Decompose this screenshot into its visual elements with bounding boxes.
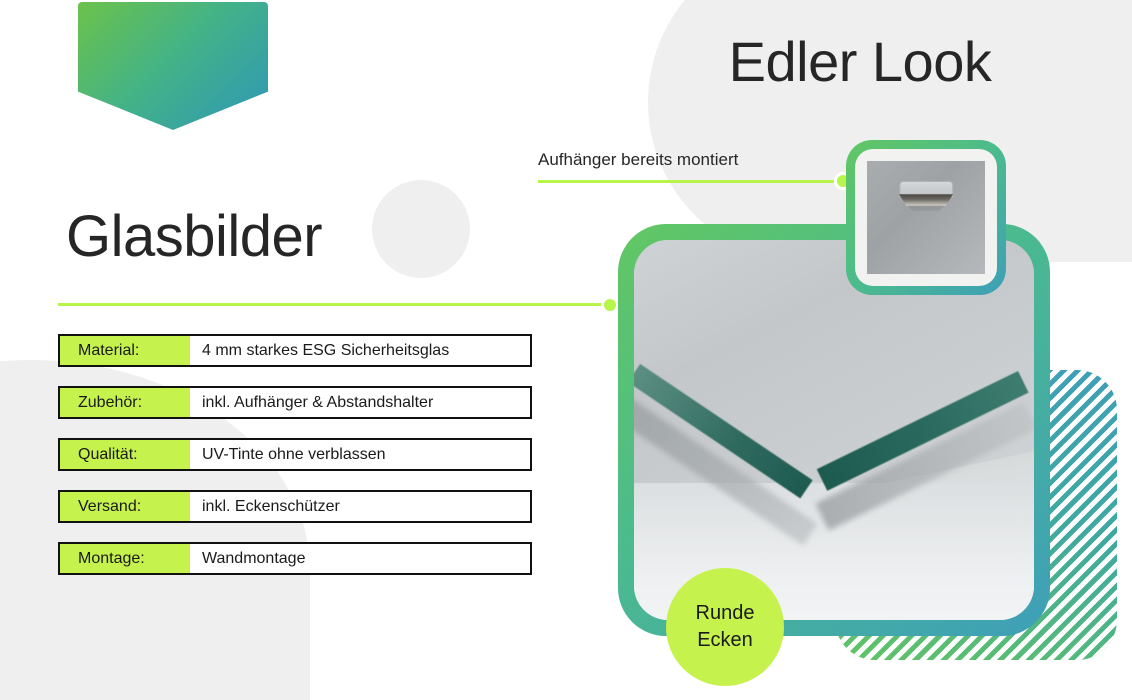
table-row: Montage: Wandmontage <box>58 542 532 575</box>
spec-value: inkl. Eckenschützer <box>190 492 530 521</box>
spec-value: UV-Tinte ohne verblassen <box>190 440 530 469</box>
table-row: Material: 4 mm starkes ESG Sicherheitsgl… <box>58 334 532 367</box>
spec-label: Versand: <box>60 492 190 521</box>
spec-table: Material: 4 mm starkes ESG Sicherheitsgl… <box>58 334 532 594</box>
spec-value: 4 mm starkes ESG Sicherheitsglas <box>190 336 530 365</box>
background-circle-title <box>372 180 470 278</box>
page-title: Glasbilder <box>66 205 322 269</box>
table-row: Zubehör: inkl. Aufhänger & Abstandshalte… <box>58 386 532 419</box>
badge-line-2: Ecken <box>697 627 753 654</box>
spec-label: Material: <box>60 336 190 365</box>
wall-hanger-bracket-icon <box>895 181 956 210</box>
title-underline-dot-icon <box>601 296 619 314</box>
hanger-detail-photo <box>867 161 985 274</box>
spec-label: Montage: <box>60 544 190 573</box>
spec-label: Qualität: <box>60 440 190 469</box>
table-row: Qualität: UV-Tinte ohne verblassen <box>58 438 532 471</box>
hanger-detail-frame <box>846 140 1006 295</box>
badge-line-1: Runde <box>696 600 755 627</box>
title-underline <box>58 303 611 306</box>
callout-hanger-line <box>538 180 844 183</box>
shield-badge-logo <box>78 2 268 130</box>
page-title-right: Edler Look <box>690 30 1030 94</box>
hanger-slot <box>895 194 956 206</box>
infographic-canvas: Edler Look Aufhänger bereits montiert Gl… <box>0 0 1132 700</box>
spec-value: inkl. Aufhänger & Abstandshalter <box>190 388 530 417</box>
spec-value: Wandmontage <box>190 544 530 573</box>
table-row: Versand: inkl. Eckenschützer <box>58 490 532 523</box>
badge-runde-ecken: Runde Ecken <box>666 568 784 686</box>
main-product-photo <box>634 240 1034 620</box>
spec-label: Zubehör: <box>60 388 190 417</box>
hanger-detail-mat <box>855 149 997 286</box>
hanger-shadow <box>901 205 950 211</box>
callout-hanger-label: Aufhänger bereits montiert <box>538 150 738 170</box>
